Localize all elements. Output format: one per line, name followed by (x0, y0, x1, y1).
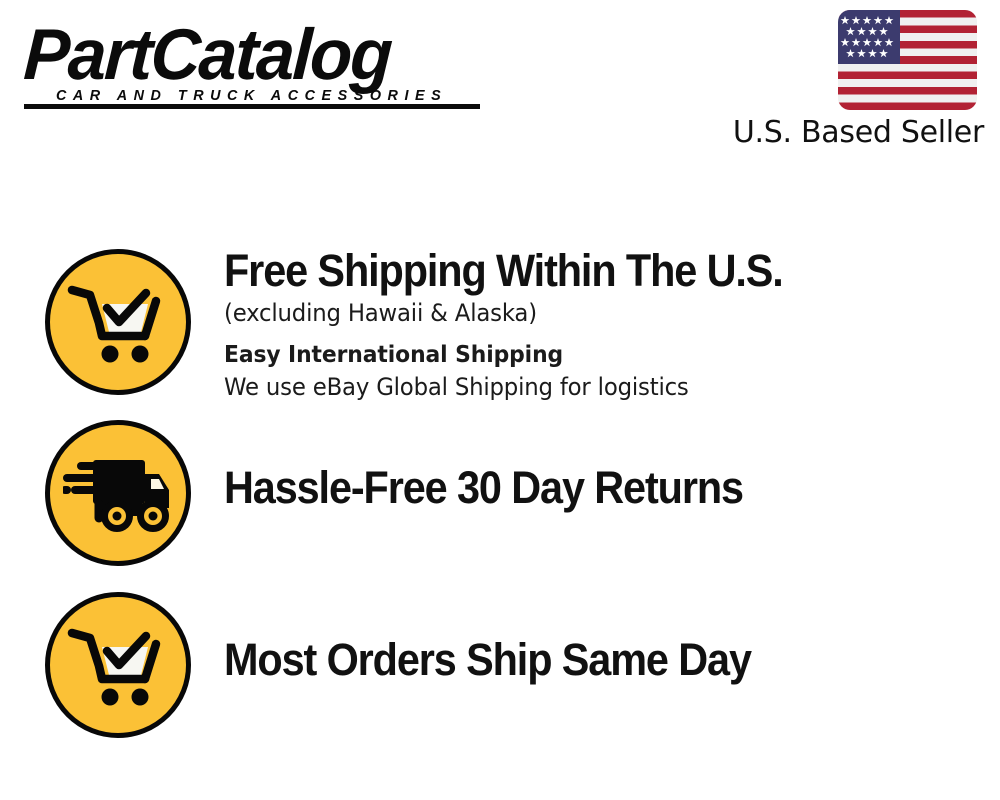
feature-icon-wrap (45, 420, 191, 566)
us-flag-icon (838, 10, 977, 110)
delivery-truck-icon (45, 420, 191, 566)
shopping-cart-check-icon (45, 249, 191, 395)
feature-text: Most Orders Ship Same Day (224, 634, 984, 686)
feature-title: Hassle-Free 30 Day Returns (224, 462, 923, 514)
brand-tagline: CAR AND TRUCK ACCESSORIES (56, 88, 490, 104)
brand-logo: PartCatalog CAR AND TRUCK ACCESSORIES (24, 18, 494, 104)
feature-icon-wrap (45, 592, 191, 738)
page-header: PartCatalog CAR AND TRUCK ACCESSORIES (0, 0, 1000, 170)
feature-icon-wrap (45, 249, 191, 395)
feature-title: Most Orders Ship Same Day (224, 634, 923, 686)
brand-wordmark: PartCatalog (22, 18, 477, 92)
flag-stars (838, 10, 900, 64)
spacer (224, 329, 984, 339)
shopping-cart-check-icon (45, 592, 191, 738)
feature-text: Free Shipping Within The U.S. (excluding… (224, 245, 984, 403)
feature-text: Hassle-Free 30 Day Returns (224, 462, 984, 514)
seller-caption: U.S. Based Seller (708, 115, 984, 151)
feature-subtitle-logistics: We use eBay Global Shipping for logistic… (224, 371, 946, 403)
feature-title: Free Shipping Within The U.S. (224, 245, 923, 297)
brand-underline-rule (24, 104, 480, 109)
feature-subtitle-exclusions: (excluding Hawaii & Alaska) (224, 297, 946, 329)
feature-subtitle-international: Easy International Shipping (224, 339, 946, 371)
us-based-seller-badge: U.S. Based Seller (708, 10, 988, 151)
